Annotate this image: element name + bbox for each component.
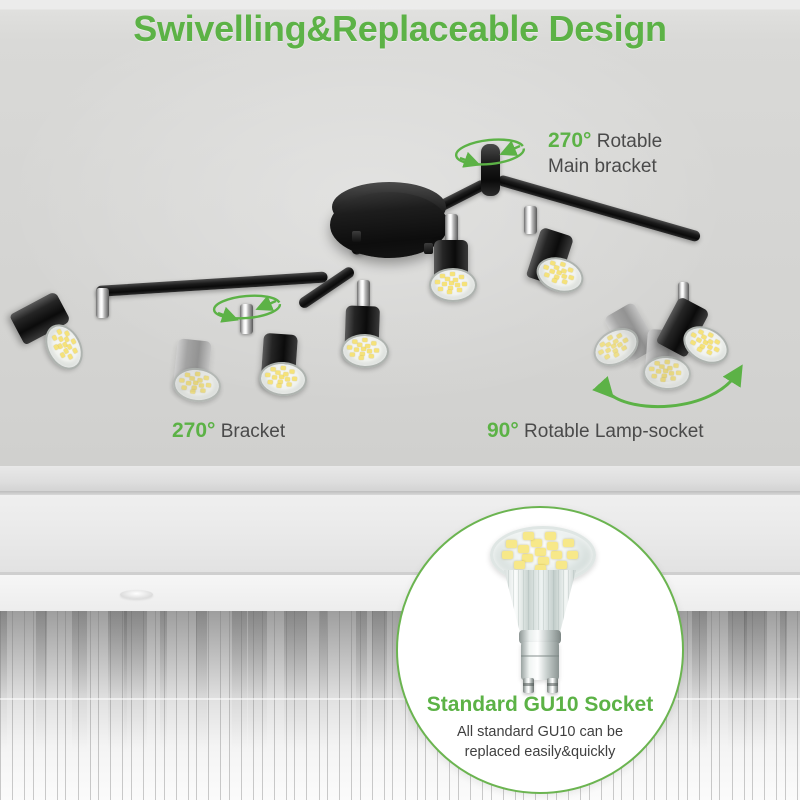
rotation-arrow-main-bracket <box>506 146 520 152</box>
recessed-downlight <box>120 590 153 599</box>
rotation-ellipse-bracket <box>213 293 281 321</box>
bulb-pin-left <box>523 678 534 693</box>
rotation-arrow-bracket <box>262 301 276 307</box>
tilt-arc-lamp-socket <box>608 372 738 407</box>
callout-lamp-socket-degrees: 90° <box>487 419 519 442</box>
socket-callout-line2: replaced easily&quickly <box>465 744 616 760</box>
bulb-glass-reflector <box>504 570 576 632</box>
callout-bracket: 270° Bracket <box>172 418 285 444</box>
rotation-indicator-graphics <box>0 0 800 470</box>
callout-main-bracket-text: Rotable <box>597 131 663 152</box>
gu10-socket-callout: Standard GU10 Socket All standard GU10 c… <box>396 506 684 794</box>
callout-bracket-text: Bracket <box>221 421 285 442</box>
callout-bracket-degrees: 270° <box>172 419 215 442</box>
socket-callout-title: Standard GU10 Socket <box>398 693 682 717</box>
product-infographic: Swivelling&Replaceable Design 270° Rotab… <box>0 0 800 800</box>
bulb-pin-right <box>547 678 558 693</box>
rotation-ellipse-main-bracket <box>455 137 525 168</box>
socket-callout-line1: All standard GU10 can be <box>457 724 623 740</box>
gu10-bulb-illustration <box>490 526 590 694</box>
callout-main-bracket: 270° Rotable Main bracket <box>548 128 662 179</box>
ceiling-face <box>0 495 800 573</box>
callout-main-bracket-degrees: 270° <box>548 129 591 152</box>
callout-lamp-socket-text: Rotable Lamp-socket <box>524 421 704 442</box>
callout-main-bracket-text2: Main bracket <box>548 156 657 177</box>
bulb-aluminium-base <box>521 642 559 680</box>
callout-lamp-socket: 90° Rotable Lamp-socket <box>487 418 704 444</box>
socket-callout-subtitle: All standard GU10 can be replaced easily… <box>398 722 682 762</box>
